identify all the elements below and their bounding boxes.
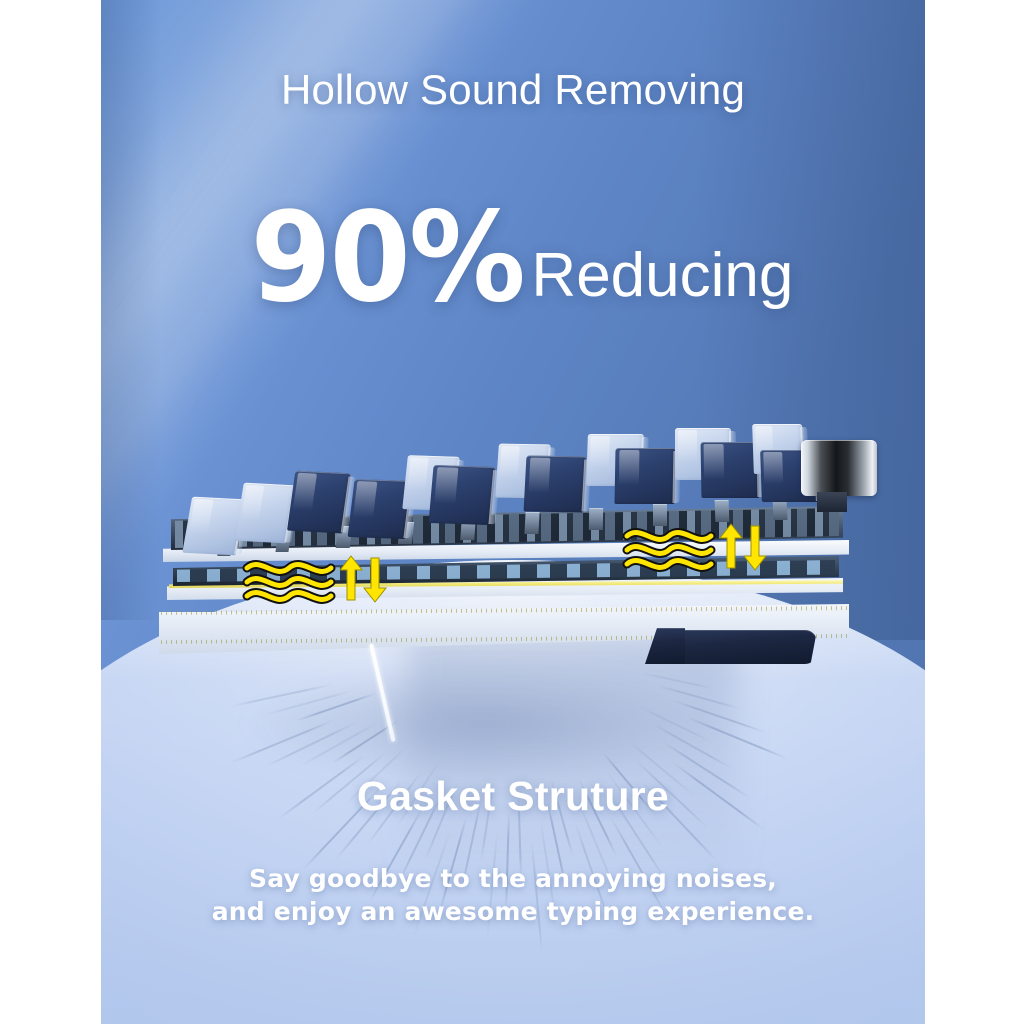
feature-description-line-2: and enjoy an awesome typing experience. [101,895,925,928]
statistic-value: 90% [250,196,523,320]
keycap-dark [287,471,351,534]
keycap-dark [524,455,587,512]
keycap-dark [615,448,676,504]
keycap-stem [524,512,539,534]
feature-title: Gasket Struture [101,773,925,820]
rotary-knob-shaft [817,492,847,512]
arrow-up-icon [340,556,362,600]
keycap-stem [589,508,603,530]
image-stage: Hollow Sound Removing 90% Reducing Gaske… [101,0,925,1024]
keycap-dark [429,465,496,525]
page-title: Hollow Sound Removing [101,66,925,114]
sound-wave-icon [241,552,391,608]
keycap-dark [701,442,760,498]
arrow-down-icon [364,558,386,602]
keycap-stem [715,500,730,522]
arrow-up-icon [720,524,742,568]
keycap-light [235,483,296,544]
rotary-knob-icon [801,440,877,496]
product-marketing-image: Hollow Sound Removing 90% Reducing Gaske… [0,0,1024,1024]
feature-description-line-1: Say goodbye to the annoying noises, [101,862,925,895]
feature-description: Say goodbye to the annoying noises, and … [101,862,925,928]
statistic-label: Reducing [531,240,793,311]
sound-wave-damping-indicator-right [621,520,771,576]
leader-line-icon [369,644,395,742]
arrow-down-icon [744,526,766,570]
sound-wave-icon [621,520,771,576]
statistic-callout: 90% Reducing [101,196,925,320]
sound-wave-damping-indicator-left [241,552,391,608]
